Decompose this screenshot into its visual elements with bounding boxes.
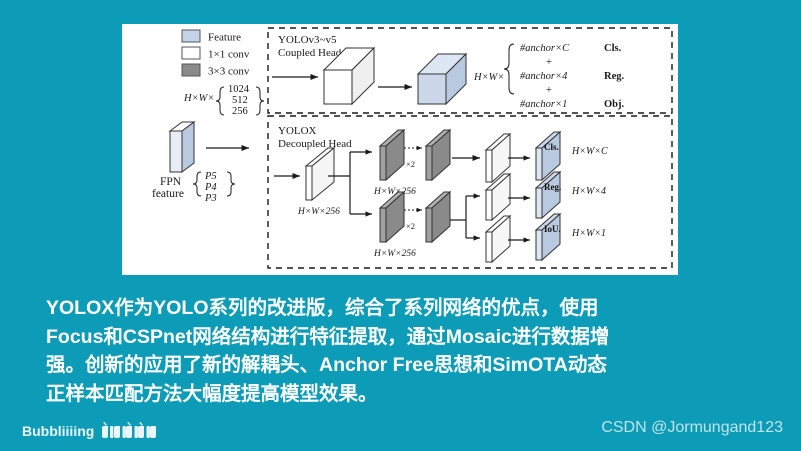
fpn-level-p3: P3 [204, 193, 217, 204]
coupled-head-title-2: Coupled Head [278, 47, 342, 59]
coupled-term-reg: #anchor×4 [520, 71, 568, 82]
coupled-output-name-cls: Cls. [604, 43, 622, 54]
coupled-term-plus-1: + [546, 57, 552, 68]
watermark-left: Bubbliiiing [22, 418, 163, 444]
input-channel-256: 256 [232, 106, 248, 117]
decoupled-output-dims-iou: H×W×1 [571, 228, 606, 239]
coupled-head-section: YOLOv3~v5 Coupled Head [268, 28, 672, 113]
legend: Feature 1×1 conv 3×3 conv [182, 30, 250, 78]
decoupled-stem-label: H×W×256 [297, 207, 340, 217]
decoupled-stem-conv [306, 148, 334, 200]
caption-line-3: 强。创新的应用了新的解耦头、Anchor Free思想和SimOTA动态 [46, 351, 758, 380]
fpn-level-p5: P5 [204, 171, 217, 182]
decoupled-head-title-2: Decoupled Head [278, 138, 352, 150]
decoupled-output-name-reg: Reg. [544, 182, 561, 192]
caption-line-4: 正样本匹配方法大幅度提高模型效果。 [46, 380, 758, 409]
reg-branch-label: H×W×256 [373, 249, 416, 259]
architecture-diagram: Feature 1×1 conv 3×3 conv H×W× 1024 512 … [122, 24, 678, 275]
legend-label-conv3x3: 3×3 conv [208, 66, 250, 78]
decoupled-output-name-iou: IoU. [544, 224, 561, 234]
fpn-label-line2: feature [152, 188, 184, 200]
legend-label-conv1x1: 1×1 conv [208, 49, 250, 61]
figure-panel: Feature 1×1 conv 3×3 conv H×W× 1024 512 … [122, 24, 678, 275]
coupled-output-name-obj: Obj. [604, 99, 625, 110]
slide-caption: YOLOX作为YOLO系列的改进版，综合了系列网络的优点，使用 Focus和CS… [46, 294, 758, 408]
coupled-term-plus-2: + [546, 85, 552, 96]
coupled-head-title-1: YOLOv3~v5 [278, 34, 337, 46]
reg-repeat-label: ×2 [406, 221, 415, 231]
bilibili-logo-icon [101, 420, 163, 442]
cls-repeat-label: ×2 [406, 159, 415, 169]
coupled-output-name-reg: Reg. [604, 71, 624, 82]
decoupled-output-dims-reg: H×W×4 [571, 186, 606, 197]
coupled-term-cls: #anchor×C [520, 43, 570, 54]
input-feature-group: H×W× 1024 512 256 FPN feature [152, 84, 264, 204]
slide-canvas: Feature 1×1 conv 3×3 conv H×W× 1024 512 … [0, 0, 801, 451]
decoupled-output-dims-cls: H×W×C [571, 146, 608, 157]
input-dims-label: H×W× [183, 93, 215, 104]
input-feature-slab [170, 122, 194, 172]
coupled-output-cube [418, 54, 466, 104]
decoupled-reg-branch: ×2 H×W×256 [373, 172, 606, 262]
legend-label-feature: Feature [208, 32, 241, 44]
input-channel-512: 512 [232, 95, 248, 106]
decoupled-head-section: YOLOX Decoupled Head H×W×256 [268, 116, 672, 268]
decoupled-output-name-cls: Cls. [544, 142, 559, 152]
fpn-label-line1: FPN [160, 176, 182, 188]
fpn-level-p4: P4 [204, 182, 217, 193]
input-channel-1024: 1024 [228, 84, 250, 95]
caption-line-2: Focus和CSPnet网络结构进行特征提取，通过Mosaic进行数据增 [46, 323, 758, 352]
decoupled-head-title-1: YOLOX [278, 125, 317, 137]
coupled-term-obj: #anchor×1 [520, 99, 567, 110]
watermark-author-name: Bubbliiiing [22, 423, 94, 439]
caption-line-1: YOLOX作为YOLO系列的改进版，综合了系列网络的优点，使用 [46, 294, 758, 323]
coupled-output-dims-label: H×W× [473, 72, 505, 83]
watermark-csdn: CSDN @Jormungand123 [601, 419, 783, 437]
